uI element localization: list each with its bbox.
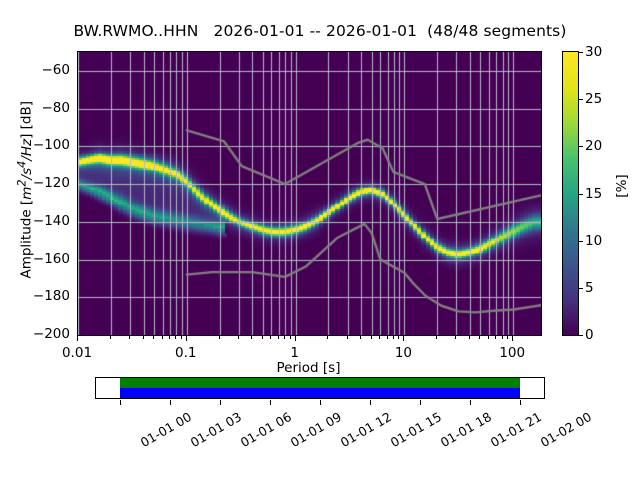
- colorbar-tick-mark: [578, 194, 583, 195]
- x-tick-mark-minor: [219, 336, 220, 339]
- timeline-tick-mark: [370, 400, 371, 405]
- x-tick-mark-minor: [502, 336, 503, 339]
- x-tick-mark-minor: [479, 336, 480, 339]
- x-tick-mark-minor: [270, 336, 271, 339]
- x-tick-mark-minor: [238, 336, 239, 339]
- y-tick-label: −60: [10, 62, 70, 78]
- timeline-tick-mark: [220, 400, 221, 405]
- y-tick-label: −140: [10, 213, 70, 229]
- y-tick-label: −180: [10, 288, 70, 304]
- timeline-tick-label: 01-01 06: [238, 409, 294, 450]
- x-tick-label: 0.01: [62, 345, 92, 361]
- x-tick-mark-major: [295, 336, 296, 341]
- x-tick-mark-major: [403, 336, 404, 341]
- timeline-tick-label: 01-01 03: [188, 409, 244, 450]
- x-tick-mark-minor: [488, 336, 489, 339]
- x-tick-mark-minor: [251, 336, 252, 339]
- x-tick-mark-minor: [175, 336, 176, 339]
- x-tick-mark-minor: [371, 336, 372, 339]
- x-tick-mark-minor: [387, 336, 388, 339]
- x-tick-mark-minor: [143, 336, 144, 339]
- timeline-ticks: 01-01 0001-01 0301-01 0601-01 0901-01 12…: [95, 400, 545, 410]
- timeline-tick-mark: [270, 400, 271, 405]
- timeline-segment-available: [120, 378, 520, 388]
- x-tick-mark-minor: [262, 336, 263, 339]
- colorbar-tick-label: 25: [585, 91, 602, 107]
- colorbar-tick-label: 30: [585, 44, 602, 60]
- colorbar-label: [%]: [614, 156, 630, 216]
- y-tick-label: −120: [10, 175, 70, 191]
- x-tick-mark-minor: [327, 336, 328, 339]
- colorbar-tick-mark: [578, 288, 583, 289]
- colorbar-tick-label: 15: [585, 186, 602, 202]
- colorbar-tick-label: 20: [585, 138, 602, 154]
- timeline-tick-label: 01-02 00: [538, 409, 594, 450]
- x-tick-mark-minor: [436, 336, 437, 339]
- timeline-tick-mark: [470, 400, 471, 405]
- x-tick-mark-minor: [393, 336, 394, 339]
- x-tick-mark-major: [77, 336, 78, 341]
- timeline-tick-label: 01-01 21: [488, 409, 544, 450]
- x-tick-mark-minor: [360, 336, 361, 339]
- ppsd-axes[interactable]: [77, 51, 542, 336]
- timeline-tick-mark: [120, 400, 121, 405]
- x-tick-label: 0.1: [175, 345, 196, 361]
- x-tick-label: 100: [499, 345, 525, 361]
- timeline-tick-mark: [420, 400, 421, 405]
- timeline-tick-mark: [170, 400, 171, 405]
- colorbar-tick-mark: [578, 335, 583, 336]
- y-axis-ticks: −60−80−100−120−140−160−180−200: [8, 51, 70, 334]
- colorbar-tick-mark: [578, 99, 583, 100]
- x-tick-mark-minor: [181, 336, 182, 339]
- x-tick-mark-minor: [507, 336, 508, 339]
- x-tick-mark-minor: [469, 336, 470, 339]
- x-axis-ticks: 0.010.1110100: [77, 336, 540, 362]
- y-tick-label: −160: [10, 251, 70, 267]
- figure-title: BW.RWMO..HHN 2026-01-01 -- 2026-01-01 (4…: [0, 22, 640, 40]
- timeline-tick-label: 01-01 00: [138, 409, 194, 450]
- x-tick-mark-minor: [110, 336, 111, 339]
- x-tick-mark-minor: [455, 336, 456, 339]
- y-tick-label: −80: [10, 100, 70, 116]
- colorbar-tick-label: 0: [585, 327, 594, 343]
- timeline-segment-data: [120, 388, 520, 398]
- colorbar-tick-mark: [578, 241, 583, 242]
- x-axis-label: Period [s]: [77, 360, 540, 376]
- colorbar-tick-mark: [578, 146, 583, 147]
- x-tick-label: 10: [395, 345, 412, 361]
- x-tick-mark-major: [186, 336, 187, 341]
- x-tick-mark-minor: [495, 336, 496, 339]
- ppsd-figure: BW.RWMO..HHN 2026-01-01 -- 2026-01-01 (4…: [0, 0, 640, 480]
- x-tick-mark-minor: [347, 336, 348, 339]
- colorbar-tick-label: 5: [585, 280, 594, 296]
- x-tick-mark-minor: [169, 336, 170, 339]
- timeline-tick-label: 01-01 09: [288, 409, 344, 450]
- x-tick-mark-minor: [284, 336, 285, 339]
- x-tick-label: 1: [290, 345, 299, 361]
- x-tick-mark-minor: [153, 336, 154, 339]
- colorbar-tick-label: 10: [585, 233, 602, 249]
- x-tick-mark-minor: [398, 336, 399, 339]
- timeline-coverage-bar[interactable]: [95, 377, 545, 399]
- x-tick-mark-major: [512, 336, 513, 341]
- x-tick-mark-minor: [278, 336, 279, 339]
- timeline-tick-label: 01-01 15: [388, 409, 444, 450]
- colorbar-tick-mark: [578, 52, 583, 53]
- x-tick-mark-minor: [290, 336, 291, 339]
- x-tick-mark-minor: [162, 336, 163, 339]
- timeline-tick-label: 01-01 12: [338, 409, 394, 450]
- y-tick-label: −200: [10, 326, 70, 342]
- x-tick-mark-minor: [129, 336, 130, 339]
- colorbar: 051015202530: [562, 51, 579, 336]
- x-tick-mark-minor: [379, 336, 380, 339]
- timeline-tick-label: 01-01 18: [438, 409, 494, 450]
- peterson-noise-model-curves: [78, 52, 541, 335]
- timeline-tick-mark: [320, 400, 321, 405]
- y-tick-label: −100: [10, 137, 70, 153]
- timeline-tick-mark: [520, 400, 521, 405]
